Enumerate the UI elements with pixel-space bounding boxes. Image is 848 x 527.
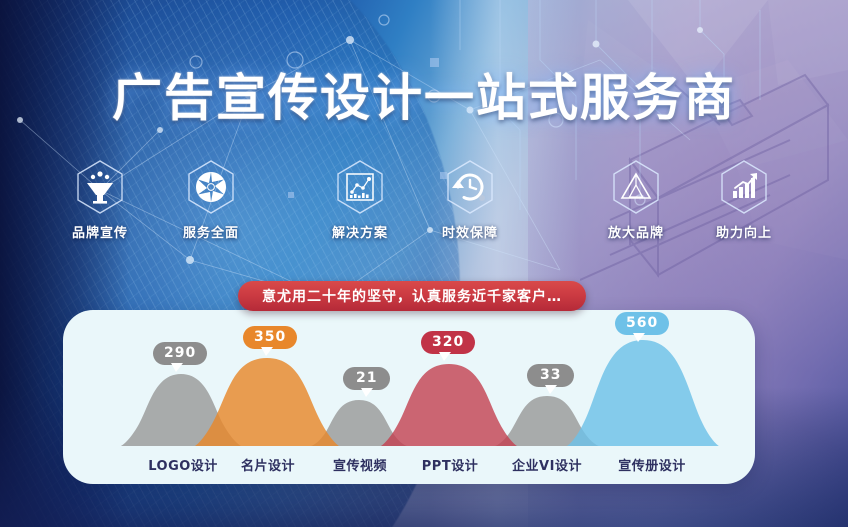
- tagline-pill[interactable]: 意尤用二十年的坚守，认真服务近千家客户…: [238, 281, 586, 311]
- feature-label: 时效保障: [422, 222, 518, 241]
- bubble-tail: [439, 352, 451, 361]
- feature-item-solutions[interactable]: 解决方案: [312, 158, 408, 241]
- chart-network-icon: [331, 158, 389, 216]
- bubble-tail: [545, 385, 557, 394]
- feature-label: 放大品牌: [588, 222, 684, 241]
- value-bubble-logo-design: 290: [153, 342, 207, 365]
- value-bubble-business-card: 350: [243, 326, 297, 349]
- feature-label: 品牌宣传: [52, 222, 148, 241]
- clock-rewind-icon: [441, 158, 499, 216]
- promo-banner: 广告宣传设计一站式服务商 品牌宣传: [0, 0, 848, 527]
- value-text: 560: [626, 315, 658, 331]
- feature-label: 服务全面: [163, 222, 259, 241]
- value-bubble-ppt-design: 320: [421, 331, 475, 354]
- feature-item-full-service[interactable]: 服务全面: [163, 158, 259, 241]
- feature-item-amplify-brand[interactable]: 放大品牌: [588, 158, 684, 241]
- feature-label: 助力向上: [696, 222, 792, 241]
- value-bubble-brochure-design: 560: [615, 312, 669, 335]
- growth-bars-icon: [715, 158, 773, 216]
- feature-item-growth[interactable]: 助力向上: [696, 158, 792, 241]
- bubble-tail: [361, 388, 373, 397]
- triangle-icon: [607, 158, 665, 216]
- bubble-tail: [171, 363, 183, 372]
- bubble-tail: [633, 333, 645, 342]
- megaphone-icon: [71, 158, 129, 216]
- tagline-text: 意尤用二十年的坚守，认真服务近千家客户…: [262, 286, 562, 306]
- feature-icon-row: 品牌宣传 服务全面: [0, 158, 848, 253]
- value-text: 290: [164, 345, 196, 361]
- page-title: 广告宣传设计一站式服务商: [0, 58, 848, 130]
- aperture-icon: [182, 158, 240, 216]
- bubble-tail: [261, 347, 273, 356]
- chart-card: 290 350 21 320: [63, 310, 755, 484]
- x-label-brochure-design: 宣传册设计: [582, 455, 722, 474]
- value-text: 21: [356, 370, 377, 386]
- value-text: 350: [254, 329, 286, 345]
- x-axis-labels: LOGO设计 名片设计 宣传视频 PPT设计 企业VI设计 宣传册设计: [63, 455, 755, 475]
- value-text: 33: [540, 367, 561, 383]
- feature-label: 解决方案: [312, 222, 408, 241]
- value-bubble-vi-design: 33: [527, 364, 574, 387]
- value-bubble-video: 21: [343, 367, 390, 390]
- feature-item-timeliness[interactable]: 时效保障: [422, 158, 518, 241]
- feature-item-brand-promotion[interactable]: 品牌宣传: [52, 158, 148, 241]
- value-text: 320: [432, 334, 464, 350]
